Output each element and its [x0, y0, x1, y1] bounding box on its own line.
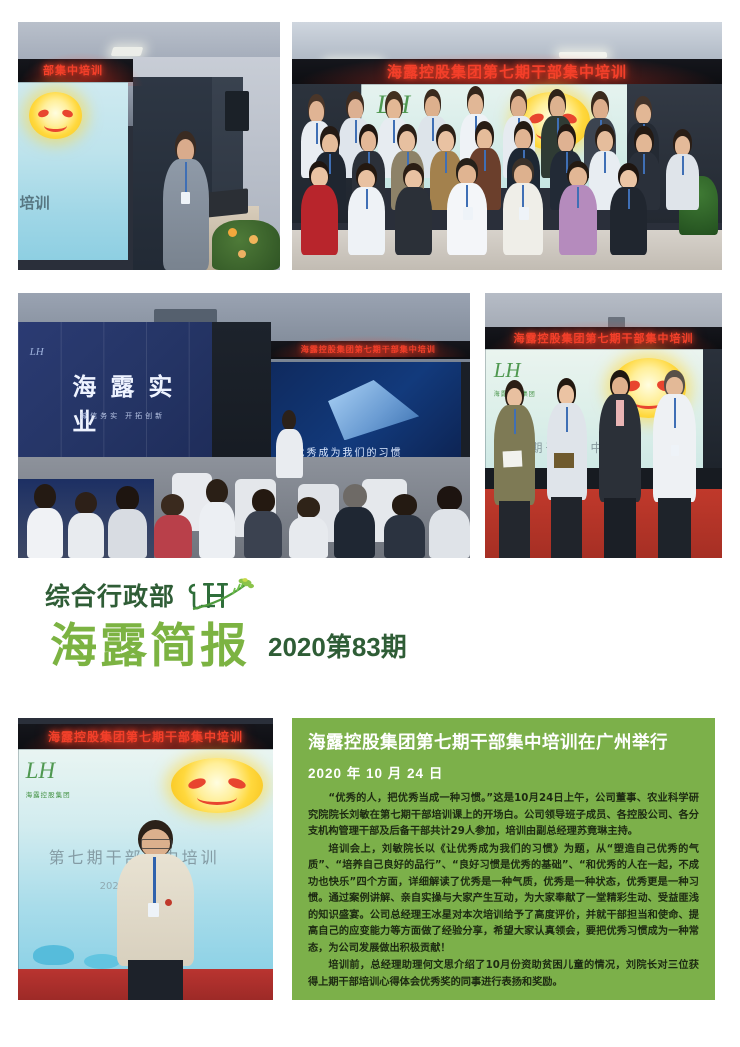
article-date: 2020 年 10 月 24 日: [308, 762, 699, 782]
masthead: 综合行政部: [0, 560, 740, 710]
wall-sign-panel: 海露实业 诚信务实 开拓创新 LH: [18, 322, 212, 470]
lecturer-figure: [117, 820, 194, 1000]
led-banner-text: 海露控股集团第七期干部集中培训: [301, 344, 436, 355]
issue-number: 2020第83期: [268, 627, 407, 669]
photo-classroom-audience: 海露实业 诚信务实 开拓创新 LH 海露控股集团第七期干部集中培训 让优秀成为我…: [18, 293, 470, 558]
video-wall: 培训: [18, 82, 128, 261]
photo-group: 海露控股集团第七期干部集中培训 LH: [292, 22, 722, 270]
department-name: 综合行政部: [45, 577, 175, 613]
article-panel: 海露控股集团第七期干部集中培训在广州举行 2020 年 10 月 24 日 “优…: [292, 718, 715, 1000]
article-body: “优秀的人，把优秀当成一种习惯。”这是10月24日上午，公司董事、农业科学研究院…: [308, 791, 699, 991]
led-banner: 海露控股集团第七期干部集中培训: [292, 59, 722, 84]
presenter-figure: [276, 410, 303, 479]
honoree-figure: [547, 378, 587, 558]
led-banner: 海露控股集团第七期干部集中培训: [485, 327, 722, 348]
honoree-figure: [653, 370, 696, 558]
led-banner-text: 海露控股集团第七期干部集中培训: [514, 330, 694, 346]
honoree-figure: [494, 380, 534, 558]
newsletter-page: 部集中培训 培训: [0, 0, 740, 1047]
lh-monogram-logo: [185, 575, 259, 615]
article-paragraph: 培训会上，刘敏院长以《让优秀成为我们的习惯》为题，从“塑造自己优秀的气质”、“培…: [308, 842, 699, 958]
wall-sign-text: 海露实业: [72, 367, 212, 437]
photo-lecturer: 海露控股集团第七期干部集中培训 LH 海露控股集团 第七期干部集中培训 2020: [18, 718, 273, 1000]
led-banner: 海露控股集团第七期干部集中培训: [18, 724, 273, 749]
article-paragraph: “优秀的人，把优秀当成一种习惯。”这是10月24日上午，公司董事、农业科学研究院…: [308, 791, 699, 841]
article-paragraph: 培训前，总经理助理何文思介绍了10月份资助贫困儿童的情况，刘院长对三位获得上期干…: [308, 958, 699, 991]
led-banner-text: 海露控股集团第七期干部集中培训: [48, 728, 243, 745]
brand-title: 海露简报: [50, 622, 250, 669]
article-title: 海露控股集团第七期干部集中培训在广州举行: [308, 732, 699, 753]
honoree-figure: [599, 370, 642, 558]
presenter-figure: [159, 131, 211, 270]
photo-speaker-at-podium: 部集中培训 培训: [18, 22, 280, 270]
led-banner: 海露控股集团第七期干部集中培训: [267, 341, 470, 360]
led-banner: 部集中培训: [18, 59, 133, 81]
photo-award-ceremony: 海露控股集团第七期干部集中培训 LH 海露控股集团 七期干部集中培训: [485, 293, 722, 558]
department-row: 综合行政部: [45, 575, 259, 615]
wall-sign-subtext: 诚信务实 开拓创新: [80, 411, 165, 421]
wall-logo: LH: [30, 346, 44, 358]
led-banner-text: 部集中培训: [43, 62, 103, 78]
led-banner-text: 海露控股集团第七期干部集中培训: [387, 61, 627, 82]
brand-row: 海露简报 2020第83期: [50, 622, 407, 669]
